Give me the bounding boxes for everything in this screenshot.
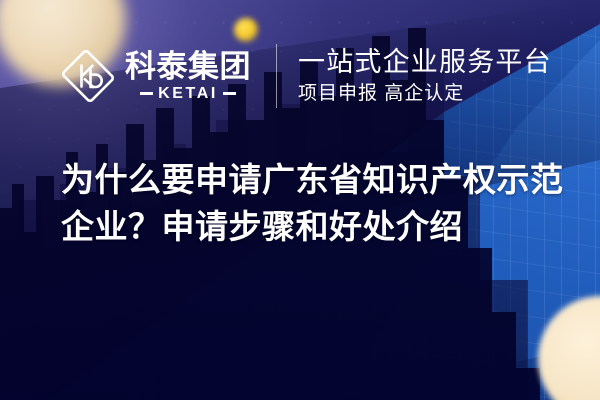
gold-dot-circle xyxy=(234,18,258,42)
page-title-line-1: 为什么要申请广东省知识产权示范 xyxy=(61,157,561,204)
brand-wordmark: 科泰集团 KETAI xyxy=(125,51,251,102)
ketai-diamond-monogram-icon xyxy=(60,48,116,104)
page-title-line-2: 企业？申请步骤和好处介绍 xyxy=(61,204,561,251)
brand-slogan: 一站式企业服务平台 项目申报 高企认定 xyxy=(298,47,552,105)
brand-name-cn: 科泰集团 xyxy=(125,51,251,82)
slogan-sub-text: 项目申报 高企认定 xyxy=(298,84,552,105)
brand-name-en: KETAI xyxy=(158,86,218,102)
page-title: 为什么要申请广东省知识产权示范 企业？申请步骤和好处介绍 xyxy=(61,157,561,251)
promo-banner: 科泰集团 KETAI 一站式企业服务平台 项目申报 高企认定 为什么要申请广东省… xyxy=(0,0,600,400)
brand-logo: 科泰集团 KETAI xyxy=(60,48,251,104)
banner-header: 科泰集团 KETAI 一站式企业服务平台 项目申报 高企认定 xyxy=(60,44,552,108)
logo-dash-right-icon xyxy=(223,92,236,95)
header-divider xyxy=(276,44,277,108)
slogan-main-text: 一站式企业服务平台 xyxy=(298,47,552,77)
logo-dash-left-icon xyxy=(140,92,153,95)
brand-name-en-row: KETAI xyxy=(125,86,251,102)
